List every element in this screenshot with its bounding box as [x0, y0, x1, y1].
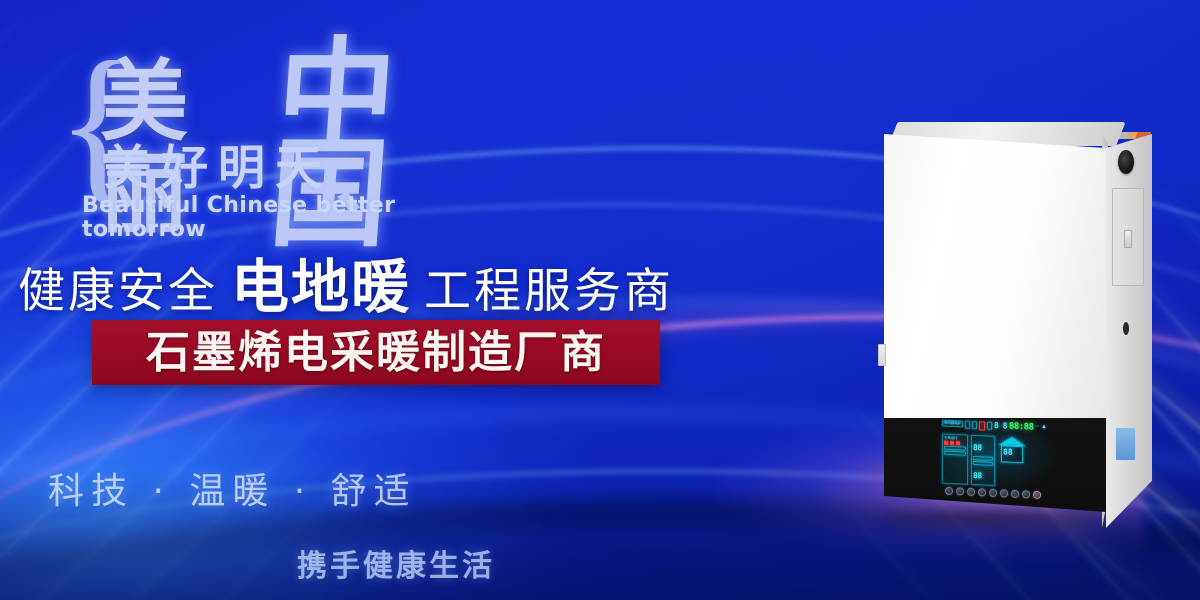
house-icon: 88 [998, 436, 1026, 463]
side-switch[interactable] [1124, 230, 1132, 248]
side-port-hole [1123, 322, 1129, 335]
wifi-icon: ▲ [1041, 424, 1047, 430]
tagline-primary: 科技 · 温暖 · 舒适 [48, 470, 417, 514]
timer-button[interactable] [1022, 490, 1030, 498]
lcd-temp-readout-b: 88 [973, 471, 982, 480]
logo-english-subtitle: Beautiful Chinese better tomorrow [82, 194, 486, 242]
lcd-alarm-indicator [979, 421, 985, 430]
lcd-seg-b [972, 421, 977, 429]
lcd-seg-c [987, 422, 992, 430]
lcd-left-bar-2 [944, 451, 966, 456]
headline: 健康安全 电地暖 工程服务商 [18, 258, 674, 320]
mode-button[interactable] [956, 487, 964, 495]
ribbon-text: 石墨烯电采暖制造厂商 [146, 330, 606, 376]
lcd-clock-readout: 88:88 [1009, 423, 1034, 433]
vent-icon [1118, 150, 1134, 174]
lcd-display: 电热膜保护 8 8 88:88 ::: ▲ 水泵运行 [942, 420, 1050, 487]
lcd-temp-readout-a: 88 [973, 443, 982, 452]
headline-lead: 健康安全 [18, 264, 218, 320]
heater-dot-2 [950, 441, 954, 445]
headline-trail: 工程服务商 [424, 264, 674, 320]
lcd-seg-a [965, 421, 970, 429]
lcd-left-group: 水泵运行 [942, 434, 968, 485]
product-front-white [884, 134, 1106, 418]
lcd-tick-marks: ::: [1036, 424, 1039, 429]
room-temperature-readout: 88 [1003, 448, 1013, 456]
set-button[interactable] [1011, 490, 1019, 498]
heater-dot-3 [956, 441, 960, 445]
product-electric-boiler: 电热膜保护 8 8 88:88 ::: ▲ 水泵运行 [866, 110, 1166, 530]
power-button[interactable] [945, 487, 953, 495]
promo-banner: { 美丽 中国 美好明天 Beautiful Chinese better to… [0, 0, 1200, 600]
lock-button[interactable] [1033, 491, 1041, 499]
lcd-center-bar-2 [973, 461, 993, 466]
tagline-secondary: 携手健康生活 [297, 548, 495, 586]
red-ribbon: 石墨烯电采暖制造厂商 [92, 320, 660, 385]
heater-dot-1 [944, 441, 948, 445]
side-blue-fitting [1116, 428, 1135, 460]
left-side-fitting [878, 344, 886, 366]
clock-button[interactable] [989, 489, 997, 497]
logo-text-meihaomingtian: 美好明天 [104, 144, 332, 194]
down-button[interactable] [978, 488, 986, 496]
brand-logo: { 美丽 中国 美好明天 Beautiful Chinese better to… [56, 48, 486, 223]
lcd-label-mode: 电热膜保护 [942, 420, 963, 428]
headline-emphasis: 电地暖 [231, 258, 411, 316]
lcd-center-group: 88 88 [971, 435, 995, 486]
menu-button[interactable] [1000, 489, 1008, 497]
lcd-middle-row: 水泵运行 88 88 [942, 434, 1050, 489]
lcd-small-status: 8 8 [994, 422, 1007, 431]
up-button[interactable] [967, 488, 975, 496]
